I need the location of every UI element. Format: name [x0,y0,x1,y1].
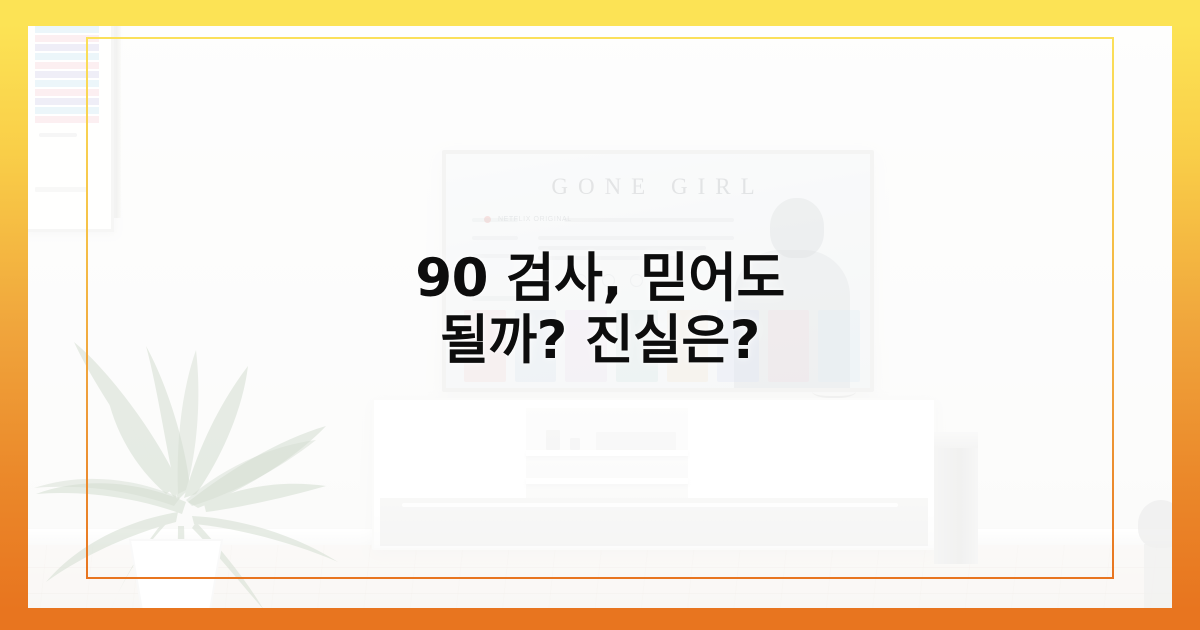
potted-houseplant [26,250,356,610]
poster-caption [35,187,87,192]
tv-cable [812,382,856,398]
banner-canvas: GONE GIRL NETFLIX ORIGINAL [0,0,1200,630]
tv-screen: GONE GIRL NETFLIX ORIGINAL [446,154,870,388]
media-console [372,398,936,550]
tv-hero-title: GONE GIRL [446,174,870,200]
framed-striped-poster [22,0,114,232]
stone-sculpture [1138,500,1184,630]
floor-standing-speaker [934,432,978,564]
background-photo: GONE GIRL NETFLIX ORIGINAL [0,0,1200,630]
flatscreen-tv: GONE GIRL NETFLIX ORIGINAL [442,150,874,392]
poster-stripes [35,0,99,125]
console-plinth [380,498,928,546]
speaker-top [934,432,978,448]
tv-row-label [472,296,530,301]
poster-signature [39,133,77,137]
tv-thumbnail-row [464,310,860,382]
plant-pot [130,540,222,610]
